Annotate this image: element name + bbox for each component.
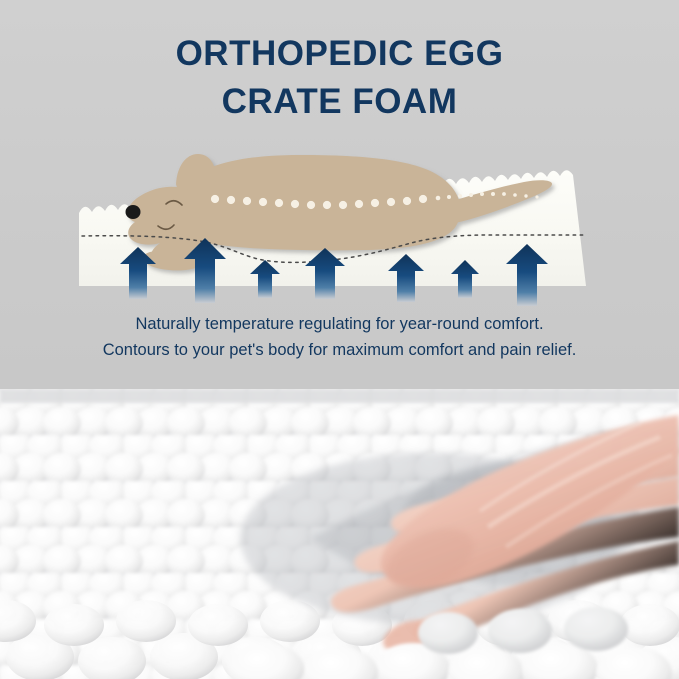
product-infographic: ORTHOPEDIC EGG CRATE FOAM	[0, 0, 679, 679]
headline-line-1: ORTHOPEDIC EGG	[0, 30, 679, 78]
dog-nose	[126, 205, 141, 219]
foam-support-illustration	[0, 126, 679, 306]
headline-line-2: CRATE FOAM	[0, 78, 679, 126]
page-title: ORTHOPEDIC EGG CRATE FOAM	[0, 30, 679, 127]
foam-closeup-photo	[0, 389, 679, 679]
caption-line-1: Naturally temperature regulating for yea…	[0, 312, 679, 338]
top-info-panel: ORTHOPEDIC EGG CRATE FOAM	[0, 0, 679, 389]
caption-line-2: Contours to your pet's body for maximum …	[0, 338, 679, 364]
feature-captions: Naturally temperature regulating for yea…	[0, 312, 679, 363]
photo-graphic	[0, 389, 679, 679]
